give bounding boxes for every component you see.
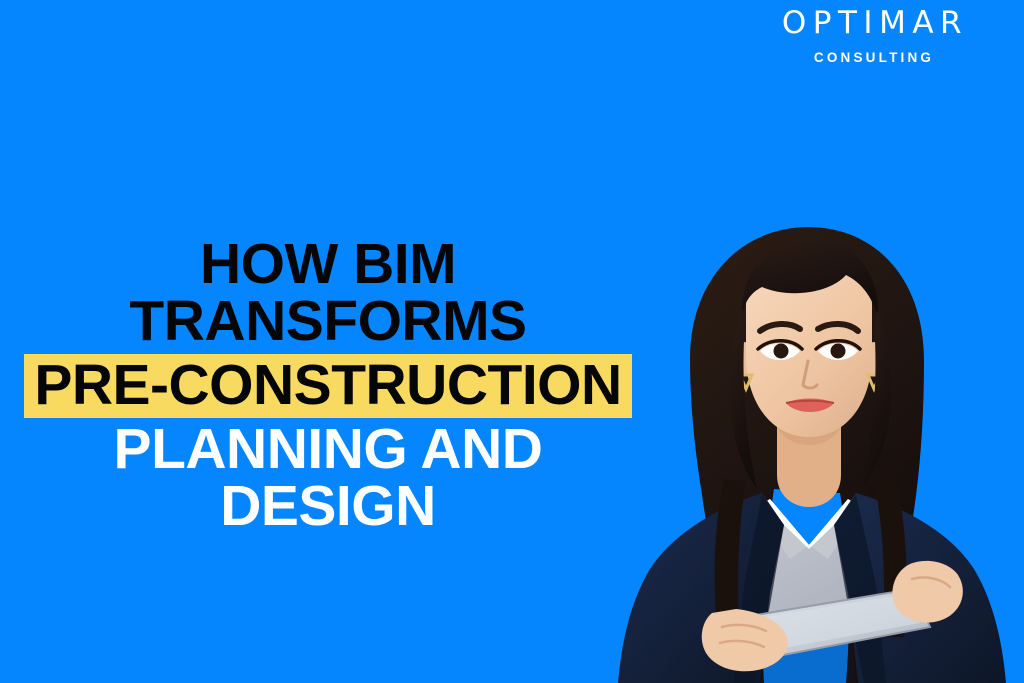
poster-canvas: OPTIMAR CONSULTING HOW BIM TRANSFORMS PR… bbox=[0, 0, 1024, 683]
headline-line-5: DESIGN bbox=[0, 478, 656, 535]
headline-block: HOW BIM TRANSFORMS PRE-CONSTRUCTION PLAN… bbox=[0, 236, 656, 535]
businesswoman-photo bbox=[594, 213, 1024, 683]
pupil-right bbox=[831, 344, 846, 359]
headline-line-1: HOW BIM bbox=[0, 236, 656, 293]
headline-line-4: PLANNING AND bbox=[0, 421, 656, 478]
headline-line-2: TRANSFORMS bbox=[0, 293, 656, 350]
headline-highlight-row: PRE-CONSTRUCTION bbox=[0, 354, 656, 418]
headline-line-3-highlighted: PRE-CONSTRUCTION bbox=[24, 354, 631, 418]
hand-right bbox=[892, 561, 962, 623]
businesswoman-illustration bbox=[594, 213, 1024, 683]
pupil-left bbox=[774, 344, 789, 359]
brand-name: OPTIMAR bbox=[758, 8, 992, 39]
brand-logo: OPTIMAR CONSULTING bbox=[752, 8, 992, 65]
brand-tagline: CONSULTING bbox=[756, 51, 992, 65]
